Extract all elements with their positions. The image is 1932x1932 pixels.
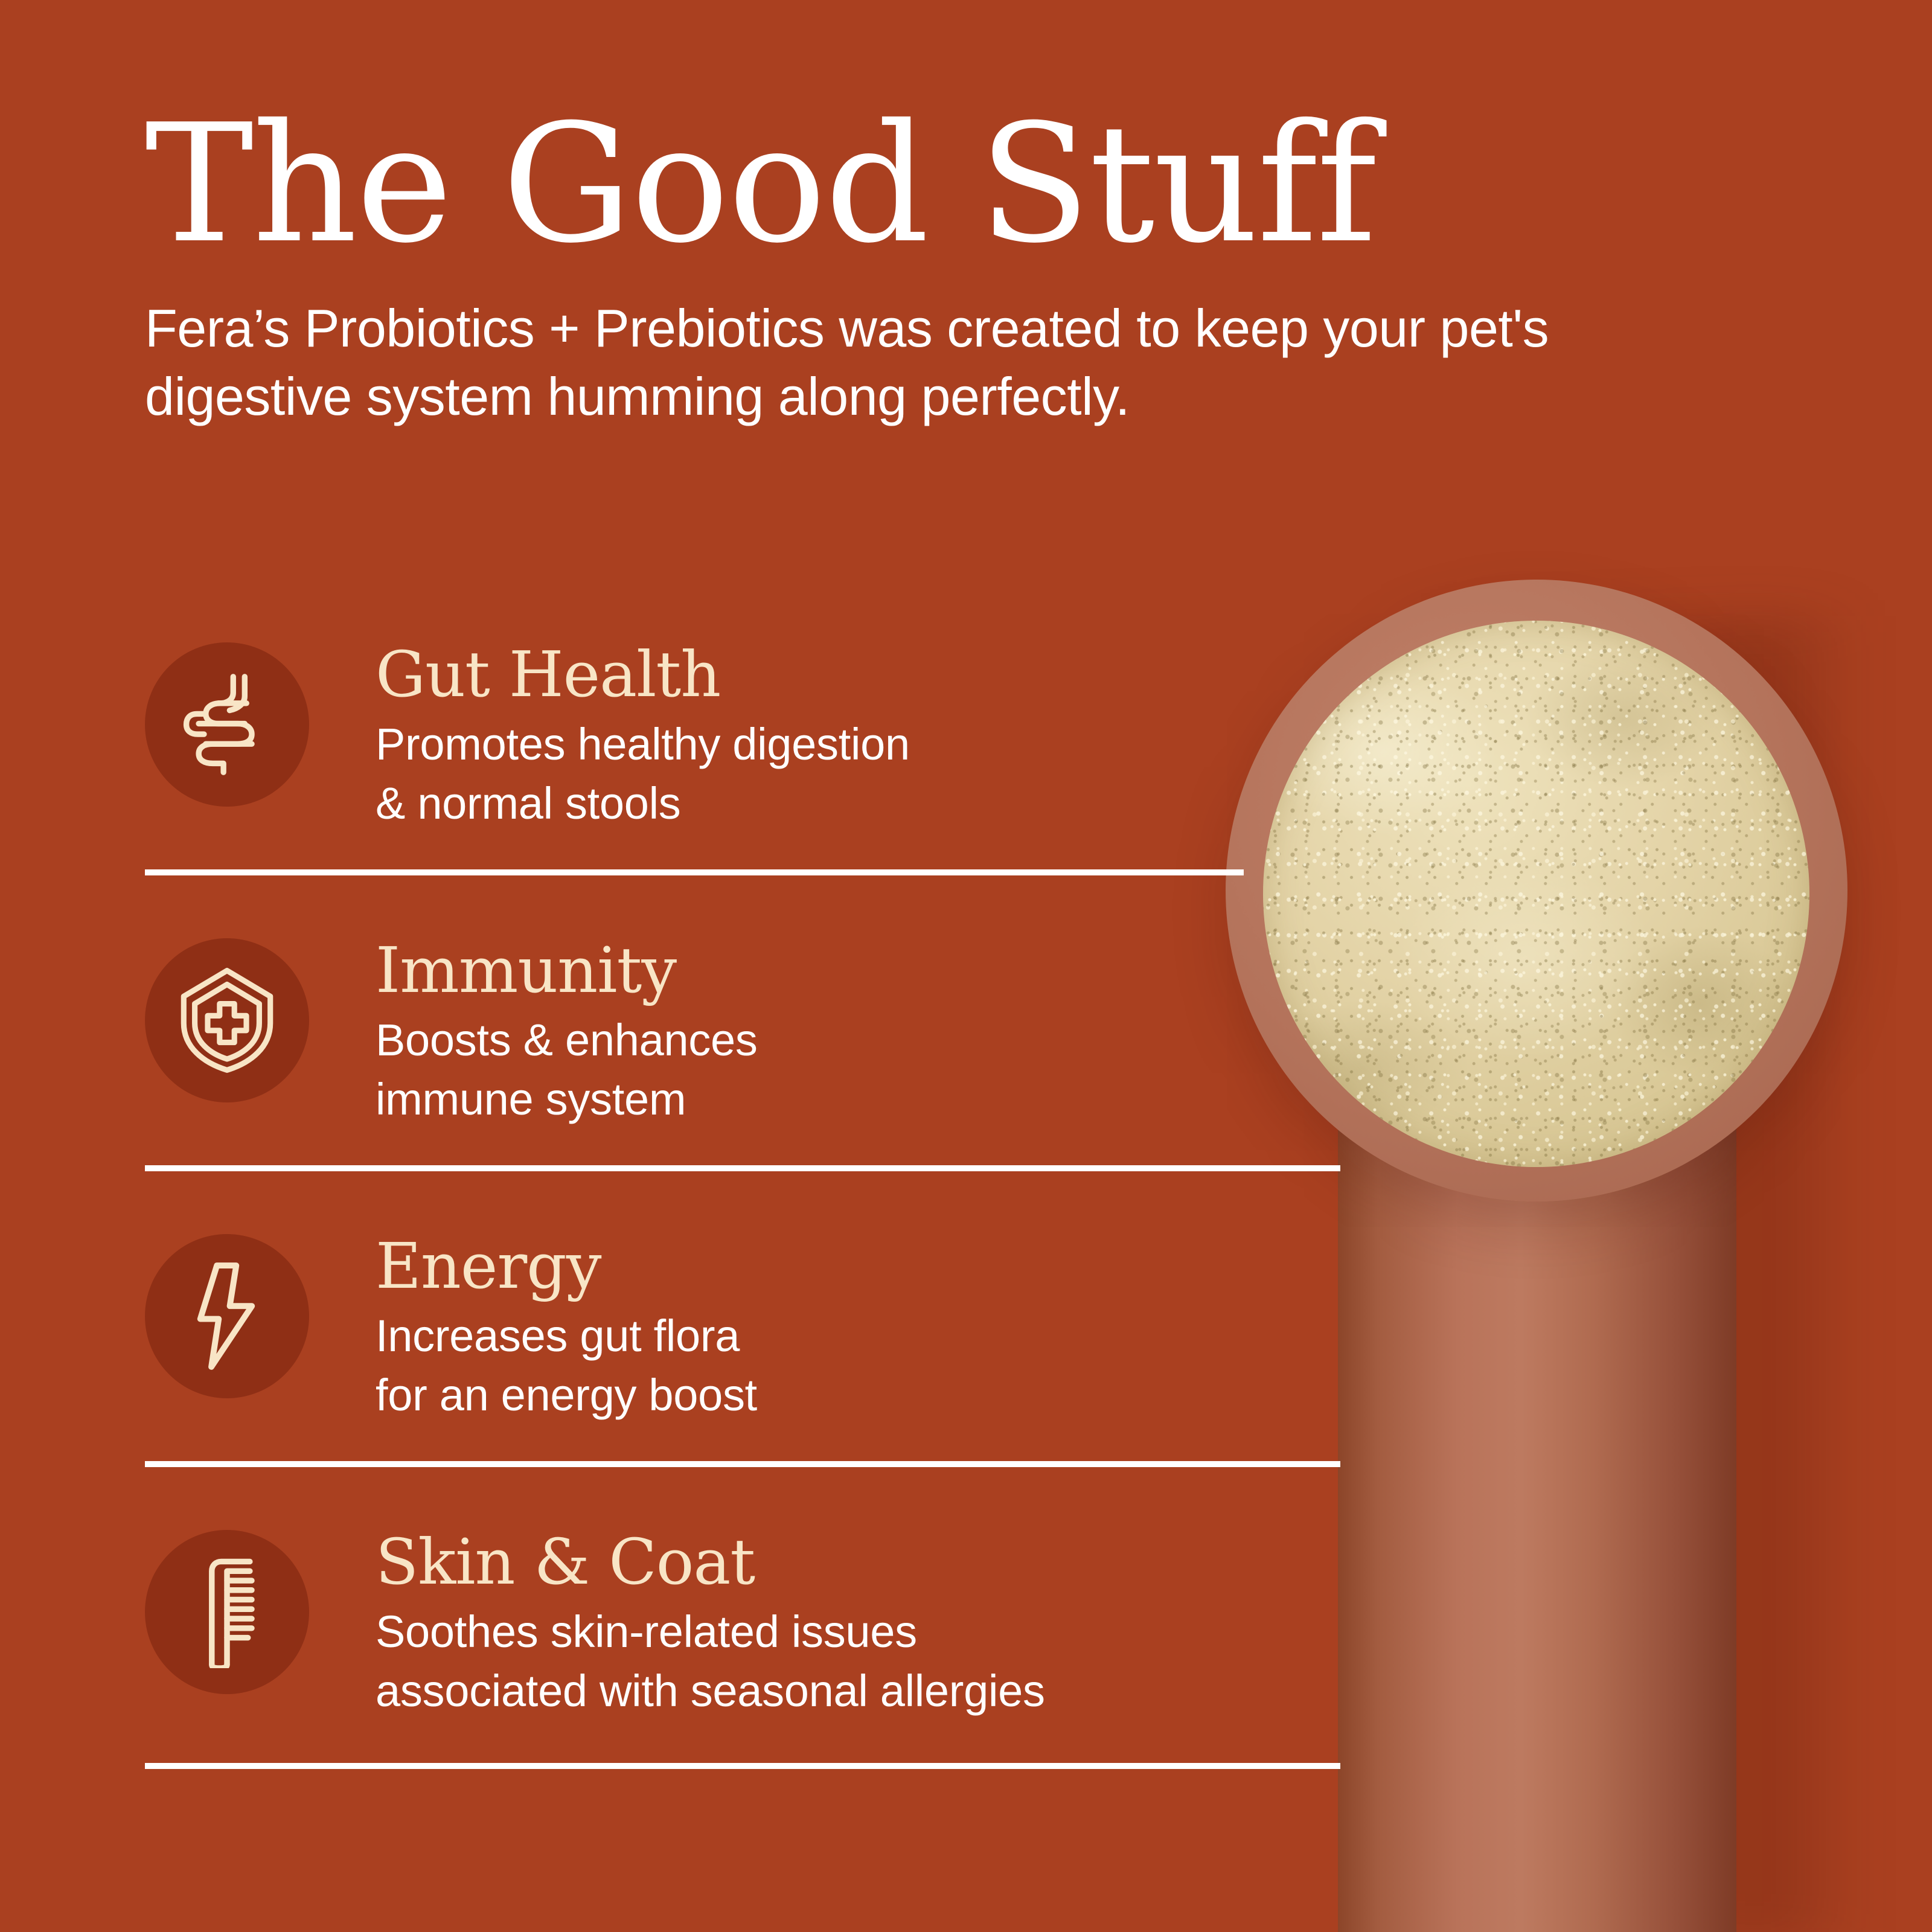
page-title: The Good Stuff bbox=[145, 103, 1715, 266]
feature-text: Energy Increases gut flora for an energy… bbox=[376, 1232, 757, 1424]
feature-description: Boosts & enhances immune system bbox=[376, 1011, 758, 1128]
feature-row: Gut Health Promotes healthy digestion & … bbox=[145, 616, 1763, 869]
feature-text: Skin & Coat Soothes skin-related issues … bbox=[376, 1527, 1045, 1720]
shield-plus-icon bbox=[145, 938, 309, 1102]
feature-divider bbox=[145, 1763, 1340, 1769]
feature-heading: Skin & Coat bbox=[376, 1530, 1045, 1594]
feature-heading: Gut Health bbox=[376, 642, 910, 706]
feature-description: Promotes healthy digestion & normal stoo… bbox=[376, 715, 910, 833]
feature-description: Soothes skin-related issues associated w… bbox=[376, 1602, 1045, 1720]
lightning-bolt-icon bbox=[145, 1234, 309, 1398]
intestine-icon bbox=[145, 642, 309, 807]
page-subtitle: Fera’s Probiotics + Prebiotics was creat… bbox=[145, 295, 1666, 430]
feature-heading: Energy bbox=[376, 1234, 757, 1298]
feature-description: Increases gut flora for an energy boost bbox=[376, 1307, 757, 1424]
feature-divider bbox=[145, 1461, 1340, 1467]
feature-divider bbox=[145, 1165, 1340, 1171]
header: The Good Stuff Fera’s Probiotics + Prebi… bbox=[145, 103, 1715, 430]
feature-divider bbox=[145, 869, 1244, 875]
feature-row: Immunity Boosts & enhances immune system bbox=[145, 912, 1763, 1165]
feature-text: Immunity Boosts & enhances immune system bbox=[376, 936, 758, 1128]
feature-row: Skin & Coat Soothes skin-related issues … bbox=[145, 1503, 1763, 1763]
comb-icon bbox=[145, 1530, 309, 1694]
feature-heading: Immunity bbox=[376, 938, 758, 1002]
feature-list: Gut Health Promotes healthy digestion & … bbox=[145, 616, 1763, 1763]
feature-text: Gut Health Promotes healthy digestion & … bbox=[376, 640, 910, 833]
marketing-graphic: The Good Stuff Fera’s Probiotics + Prebi… bbox=[0, 0, 1932, 1932]
feature-row: Energy Increases gut flora for an energy… bbox=[145, 1207, 1763, 1461]
